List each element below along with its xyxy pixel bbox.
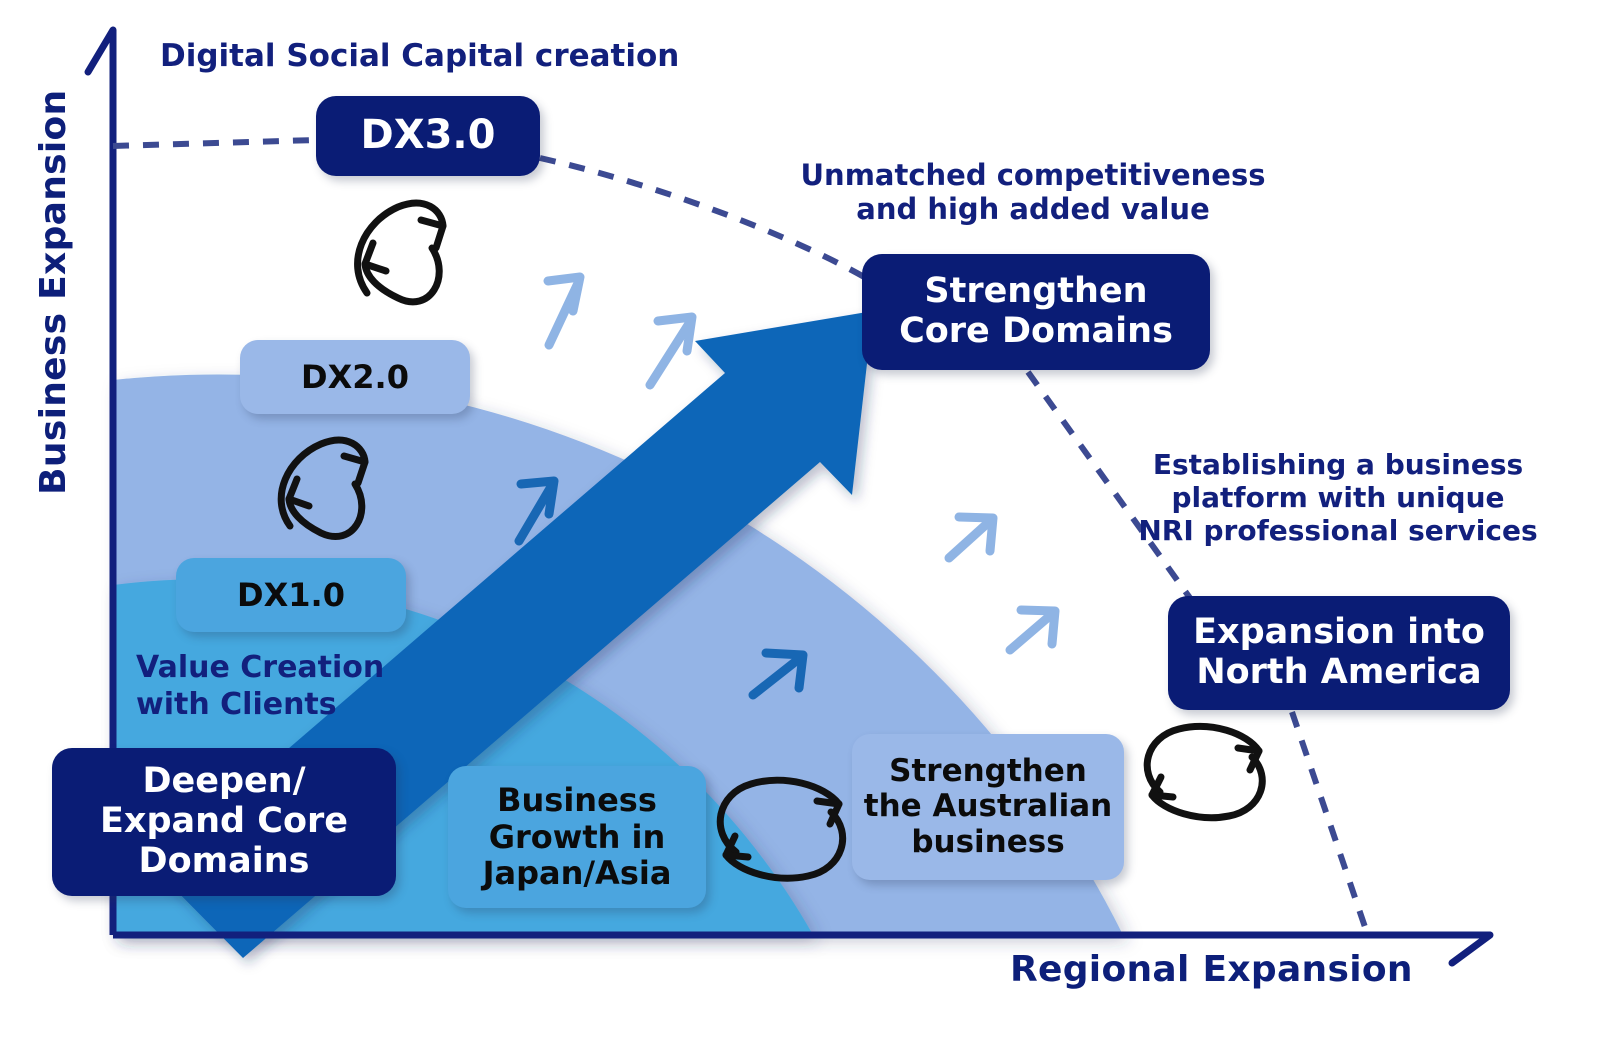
node-strengthen-core-domains[interactable]: Strengthen Core Domains [862,254,1210,370]
caption-unmatched-competitiveness: Unmatched competitiveness and high added… [778,158,1288,226]
axis-x-label: Regional Expansion [1010,950,1450,990]
node-expansion-north-america[interactable]: Expansion into North America [1168,596,1510,710]
diagram-canvas: Business Expansion Regional Expansion Di… [0,0,1600,1060]
caption-business-platform: Establishing a business platform with un… [1128,448,1548,547]
node-deepen-expand-core-domains[interactable]: Deepen/ Expand Core Domains [52,748,396,896]
small-arrow-icon [650,317,692,385]
node-business-growth-japan-asia[interactable]: Business Growth in Japan/Asia [448,766,706,908]
small-arrow-icon [548,277,580,345]
node-dx2[interactable]: DX2.0 [240,340,470,414]
dash-axis-to-dx3 [113,140,316,146]
caption-digital-social-capital: Digital Social Capital creation [160,38,680,75]
caption-value-creation: Value Creation with Clients [136,650,436,723]
dash-na-to-axis [1292,712,1366,930]
small-arrow-icon [1010,610,1055,650]
node-dx3[interactable]: DX3.0 [316,96,540,176]
node-strengthen-australian-business[interactable]: Strengthen the Australian business [852,734,1124,880]
node-dx1[interactable]: DX1.0 [176,558,406,632]
exchange-arrow-australia-northamerica [1147,726,1262,817]
small-arrow-icon [949,517,993,558]
exchange-arrow-dx3-dx2 [358,203,443,302]
axis-y-label: Business Expansion [34,72,74,512]
